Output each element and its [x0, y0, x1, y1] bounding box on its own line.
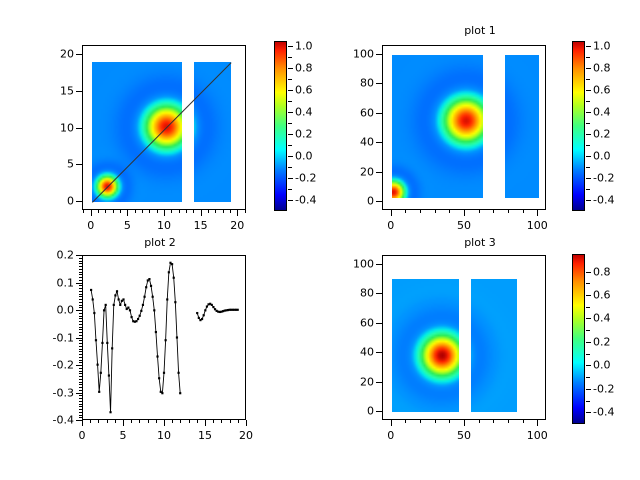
y-tick-label: 40 [360, 136, 374, 149]
colorbar-tick [586, 200, 591, 201]
data-point-marker [166, 298, 168, 300]
y-minor-tick [79, 294, 82, 295]
y-major-tick [376, 293, 382, 294]
y-minor-tick [79, 269, 82, 270]
y-minor-tick [79, 340, 82, 341]
x-tick-label: 5 [124, 219, 131, 232]
x-minor-tick [139, 420, 140, 423]
panel-bottom-left-axes[interactable] [82, 255, 246, 420]
x-minor-tick [148, 420, 149, 423]
y-minor-tick [79, 376, 82, 377]
x-tick-label: 0 [87, 219, 94, 232]
x-minor-tick [435, 420, 436, 423]
x-minor-tick [420, 420, 421, 423]
x-tick-label: 15 [198, 429, 212, 442]
colorbar-tick [288, 68, 293, 69]
colorbar-tick [586, 318, 591, 319]
data-point-marker [95, 339, 97, 341]
data-point-marker [119, 304, 121, 306]
x-minor-tick [493, 420, 494, 423]
data-point-marker [103, 309, 105, 311]
colorbar-minor-tick [586, 123, 590, 124]
heatmap-block [194, 62, 231, 202]
data-point-marker [131, 316, 133, 318]
y-major-tick [376, 382, 382, 383]
colorbar-tick [288, 134, 293, 135]
x-major-tick [82, 420, 83, 426]
colorbar-minor-tick [288, 189, 292, 190]
x-minor-tick [197, 420, 198, 423]
y-tick-label: 0 [67, 195, 74, 208]
y-major-tick [76, 310, 82, 311]
data-point-marker [150, 285, 152, 287]
data-point-marker [177, 372, 179, 374]
x-major-tick [391, 210, 392, 216]
colorbar-tick-label: 0.8 [593, 62, 611, 75]
y-minor-tick [79, 415, 82, 416]
colorbar-tick [288, 112, 293, 113]
y-tick-label: 20 [360, 165, 374, 178]
y-tick-label: 0 [367, 405, 374, 418]
x-minor-tick [245, 210, 246, 213]
y-minor-tick [79, 327, 82, 328]
x-minor-tick [172, 420, 173, 423]
y-major-tick [76, 420, 82, 421]
y-minor-tick [79, 387, 82, 388]
x-tick-label: 5 [120, 429, 127, 442]
x-minor-tick [135, 210, 136, 213]
colorbar-tick-label: 0.8 [295, 62, 313, 75]
data-point-marker [163, 372, 165, 374]
colorbar-minor-tick [586, 101, 590, 102]
colorbar-tick [586, 156, 591, 157]
data-point-marker [148, 278, 150, 280]
data-point-marker [237, 309, 239, 311]
colorbar-tick-label: 1.0 [593, 40, 611, 53]
x-tick-label: 20 [230, 219, 244, 232]
data-point-marker [127, 307, 129, 309]
heatmap-block [392, 279, 459, 412]
data-point-marker [206, 305, 208, 307]
y-minor-tick [79, 318, 82, 319]
colorbar-tick [586, 342, 591, 343]
colorbar-tick-label: 0.6 [593, 84, 611, 97]
data-point-marker [109, 411, 111, 413]
x-minor-tick [157, 210, 158, 213]
x-minor-tick [221, 420, 222, 423]
data-point-marker [168, 271, 170, 273]
x-minor-tick [113, 210, 114, 213]
x-minor-tick [449, 210, 450, 213]
data-point-marker [156, 355, 158, 357]
x-minor-tick [493, 210, 494, 213]
data-point-marker [179, 392, 181, 394]
data-point-marker [116, 290, 118, 292]
colorbar-tick-label: 0.6 [295, 84, 313, 97]
colorbar-tick [586, 178, 591, 179]
figure-canvas: 0510152005101520 -0.4-0.20.00.20.40.60.8… [0, 0, 640, 480]
x-major-tick [127, 210, 128, 216]
data-point-marker [145, 286, 147, 288]
colorbar-tick-label: 0.2 [593, 335, 611, 348]
x-minor-tick [435, 210, 436, 213]
colorbar-tick [586, 412, 591, 413]
panel-top-right-title: plot 1 [320, 24, 640, 37]
y-tick-label: 0.0 [57, 304, 75, 317]
panel-bottom-right: plot 3 050100020406080100 -0.4-0.20.00.2… [320, 240, 640, 480]
x-tick-label: 20 [239, 429, 253, 442]
colorbar-tick-label: -0.2 [593, 382, 614, 395]
y-minor-tick [79, 261, 82, 262]
x-minor-tick [508, 210, 509, 213]
colorbar-minor-tick [586, 57, 590, 58]
x-major-tick [164, 210, 165, 216]
y-minor-tick [79, 412, 82, 413]
y-minor-tick [79, 280, 82, 281]
colorbar-tick-label: 0.0 [593, 150, 611, 163]
y-minor-tick [79, 346, 82, 347]
y-minor-tick [79, 321, 82, 322]
y-minor-tick [79, 351, 82, 352]
y-minor-tick [79, 305, 82, 306]
y-minor-tick [79, 274, 82, 275]
y-minor-tick [79, 299, 82, 300]
y-tick-label: 0.1 [57, 276, 75, 289]
y-major-tick [76, 128, 82, 129]
data-point-marker [137, 318, 139, 320]
x-minor-tick [230, 210, 231, 213]
colorbar-minor-tick [288, 79, 292, 80]
x-minor-tick [193, 210, 194, 213]
y-tick-label: 20 [60, 47, 74, 60]
y-minor-tick [79, 296, 82, 297]
colorbar-tick-label: 0.8 [593, 265, 611, 278]
panel-top-left: 0510152005101520 -0.4-0.20.00.20.40.60.8… [0, 0, 320, 240]
colorbar-minor-tick [586, 377, 590, 378]
y-tick-label: 20 [360, 375, 374, 388]
y-major-tick [376, 113, 382, 114]
colorbar-tick-label: 0.4 [593, 106, 611, 119]
data-point-marker [153, 309, 155, 311]
heatmap-block [92, 62, 182, 202]
x-minor-tick [120, 210, 121, 213]
data-point-marker [96, 364, 98, 366]
y-minor-tick [79, 329, 82, 330]
colorbar-minor-tick [586, 283, 590, 284]
x-major-tick [537, 420, 538, 426]
x-minor-tick [115, 420, 116, 423]
y-minor-tick [79, 368, 82, 369]
line-series-svg [83, 256, 245, 419]
y-minor-tick [79, 332, 82, 333]
colorbar-tick [586, 389, 591, 390]
y-major-tick [76, 283, 82, 284]
x-minor-tick [508, 420, 509, 423]
colorbar-tick-label: 0.6 [593, 289, 611, 302]
y-minor-tick [79, 362, 82, 363]
colorbar-minor-tick [288, 123, 292, 124]
panel-top-right-axes[interactable] [382, 45, 546, 210]
colorbar-minor-tick [586, 354, 590, 355]
colorbar-minor-tick [288, 145, 292, 146]
y-major-tick [76, 164, 82, 165]
x-tick-label: 100 [527, 219, 548, 232]
colorbar-tick [586, 46, 591, 47]
x-tick-label: 0 [387, 219, 394, 232]
data-point-marker [204, 309, 206, 311]
heatmap-block [505, 55, 539, 198]
x-minor-tick [107, 420, 108, 423]
y-minor-tick [79, 360, 82, 361]
colorbar-tick-label: -0.4 [593, 406, 614, 419]
y-minor-tick [79, 266, 82, 267]
y-minor-tick [79, 404, 82, 405]
x-minor-tick [523, 420, 524, 423]
y-tick-label: 80 [360, 77, 374, 90]
y-minor-tick [79, 373, 82, 374]
data-point-marker [142, 304, 144, 306]
data-point-marker [92, 298, 94, 300]
y-minor-tick [79, 288, 82, 289]
data-point-marker [101, 342, 103, 344]
panel-bottom-right-colorbar[interactable] [572, 254, 585, 424]
y-tick-label: 0.2 [57, 249, 75, 262]
colorbar-tick [586, 295, 591, 296]
data-point-marker [155, 331, 157, 333]
data-point-marker [90, 289, 92, 291]
panel-bottom-left: plot 2 05101520-0.4-0.3-0.2-0.10.00.10.2 [0, 240, 320, 480]
y-tick-label: 0 [367, 195, 374, 208]
y-minor-tick [79, 401, 82, 402]
x-tick-label: 50 [457, 219, 471, 232]
y-minor-tick [79, 258, 82, 259]
panel-bottom-right-axes[interactable] [382, 255, 546, 420]
x-minor-tick [230, 420, 231, 423]
colorbar-tick [586, 68, 591, 69]
data-point-marker [108, 374, 110, 376]
y-minor-tick [79, 395, 82, 396]
x-tick-label: 15 [194, 219, 208, 232]
y-major-tick [376, 352, 382, 353]
data-point-marker [140, 310, 142, 312]
y-minor-tick [79, 398, 82, 399]
data-point-marker [105, 304, 107, 306]
y-tick-label: 15 [60, 84, 74, 97]
x-minor-tick [208, 210, 209, 213]
colorbar-tick-label: 0.2 [295, 128, 313, 141]
x-major-tick [391, 420, 392, 426]
x-major-tick [201, 210, 202, 216]
data-point-marker [118, 298, 120, 300]
data-point-marker [100, 372, 102, 374]
x-minor-tick [223, 210, 224, 213]
x-tick-label: 0 [79, 429, 86, 442]
data-point-marker [198, 317, 200, 319]
data-point-marker [93, 312, 95, 314]
x-major-tick [246, 420, 247, 426]
y-minor-tick [79, 324, 82, 325]
colorbar-tick [586, 90, 591, 91]
data-point-marker [173, 277, 175, 279]
x-major-tick [123, 420, 124, 426]
y-tick-label: 100 [353, 47, 374, 60]
x-minor-tick [213, 420, 214, 423]
data-point-marker [161, 392, 163, 394]
data-point-marker [98, 391, 100, 393]
x-minor-tick [98, 210, 99, 213]
y-major-tick [376, 142, 382, 143]
y-minor-tick [79, 357, 82, 358]
y-tick-label: 5 [67, 158, 74, 171]
x-minor-tick [83, 210, 84, 213]
y-minor-tick [79, 302, 82, 303]
x-minor-tick [215, 210, 216, 213]
y-tick-label: 100 [353, 257, 374, 270]
panel-top-left-colorbar[interactable] [274, 41, 287, 211]
colorbar-tick [288, 46, 293, 47]
y-minor-tick [79, 343, 82, 344]
y-minor-tick [79, 263, 82, 264]
y-minor-tick [79, 384, 82, 385]
x-major-tick [537, 210, 538, 216]
x-tick-label: 10 [157, 429, 171, 442]
colorbar-tick-label: -0.2 [593, 172, 614, 185]
y-minor-tick [79, 313, 82, 314]
y-major-tick [76, 365, 82, 366]
x-minor-tick [142, 210, 143, 213]
colorbar-tick-label: 0.4 [295, 106, 313, 119]
y-minor-tick [79, 390, 82, 391]
panel-top-left-axes[interactable] [82, 45, 246, 210]
y-major-tick [76, 338, 82, 339]
data-point-marker [203, 314, 205, 316]
data-point-marker [152, 296, 154, 298]
y-major-tick [76, 393, 82, 394]
data-point-marker [124, 304, 126, 306]
y-tick-label: 60 [360, 106, 374, 119]
colorbar-minor-tick [586, 167, 590, 168]
x-minor-tick [479, 210, 480, 213]
x-minor-tick [179, 210, 180, 213]
x-tick-label: 100 [527, 429, 548, 442]
x-minor-tick [90, 420, 91, 423]
colorbar-tick [288, 200, 293, 201]
y-major-tick [376, 54, 382, 55]
panel-bottom-left-title: plot 2 [0, 236, 320, 249]
data-point-marker [201, 318, 203, 320]
y-tick-label: -0.3 [53, 386, 74, 399]
y-tick-label: -0.1 [53, 331, 74, 344]
x-minor-tick [238, 420, 239, 423]
y-tick-label: -0.2 [53, 359, 74, 372]
x-minor-tick [131, 420, 132, 423]
y-tick-label: 80 [360, 287, 374, 300]
data-point-marker [139, 315, 141, 317]
y-major-tick [376, 323, 382, 324]
x-minor-tick [405, 210, 406, 213]
x-minor-tick [98, 420, 99, 423]
y-minor-tick [79, 417, 82, 418]
y-tick-label: 40 [360, 346, 374, 359]
colorbar-tick-label: -0.2 [295, 172, 316, 185]
y-minor-tick [79, 272, 82, 273]
y-minor-tick [79, 285, 82, 286]
y-minor-tick [79, 371, 82, 372]
data-point-marker [174, 301, 176, 303]
colorbar-tick-label: 0.0 [295, 150, 313, 163]
y-minor-tick [79, 291, 82, 292]
data-point-marker [176, 336, 178, 338]
y-minor-tick [79, 335, 82, 336]
x-minor-tick [156, 420, 157, 423]
data-point-marker [129, 309, 131, 311]
x-major-tick [237, 210, 238, 216]
y-minor-tick [79, 349, 82, 350]
x-minor-tick [449, 420, 450, 423]
colorbar-minor-tick [586, 79, 590, 80]
data-point-marker [171, 263, 173, 265]
heatmap-block [471, 279, 517, 412]
y-tick-label: -0.4 [53, 414, 74, 427]
y-major-tick [376, 172, 382, 173]
y-minor-tick [79, 382, 82, 383]
y-tick-label: 60 [360, 316, 374, 329]
y-minor-tick [79, 316, 82, 317]
x-minor-tick [420, 210, 421, 213]
colorbar-tick [586, 365, 591, 366]
x-minor-tick [180, 420, 181, 423]
x-minor-tick [105, 210, 106, 213]
x-major-tick [164, 420, 165, 426]
panel-top-right: plot 1 050100020406080100 -0.4-0.20.00.2… [320, 0, 640, 240]
y-major-tick [76, 255, 82, 256]
y-minor-tick [79, 354, 82, 355]
data-point-marker [114, 294, 116, 296]
colorbar-minor-tick [288, 167, 292, 168]
y-major-tick [376, 83, 382, 84]
x-minor-tick [523, 210, 524, 213]
data-point-marker [143, 296, 145, 298]
y-major-tick [76, 201, 82, 202]
x-major-tick [205, 420, 206, 426]
x-minor-tick [149, 210, 150, 213]
colorbar-tick-label: 1.0 [295, 40, 313, 53]
colorbar-minor-tick [586, 330, 590, 331]
y-major-tick [376, 201, 382, 202]
colorbar-minor-tick [288, 57, 292, 58]
colorbar-tick [288, 156, 293, 157]
colorbar-minor-tick [288, 101, 292, 102]
y-minor-tick [79, 406, 82, 407]
colorbar-tick [288, 90, 293, 91]
data-point-marker [212, 306, 214, 308]
x-tick-label: 50 [457, 429, 471, 442]
panel-top-right-colorbar[interactable] [572, 41, 585, 211]
y-tick-label: 10 [60, 121, 74, 134]
colorbar-tick-label: -0.4 [295, 194, 316, 207]
y-minor-tick [79, 409, 82, 410]
x-minor-tick [189, 420, 190, 423]
data-point-marker [113, 304, 115, 306]
data-point-marker [196, 312, 198, 314]
colorbar-minor-tick [586, 189, 590, 190]
colorbar-tick [586, 112, 591, 113]
x-minor-tick [479, 420, 480, 423]
y-major-tick [376, 264, 382, 265]
x-major-tick [91, 210, 92, 216]
x-tick-label: 10 [157, 219, 171, 232]
colorbar-minor-tick [586, 145, 590, 146]
